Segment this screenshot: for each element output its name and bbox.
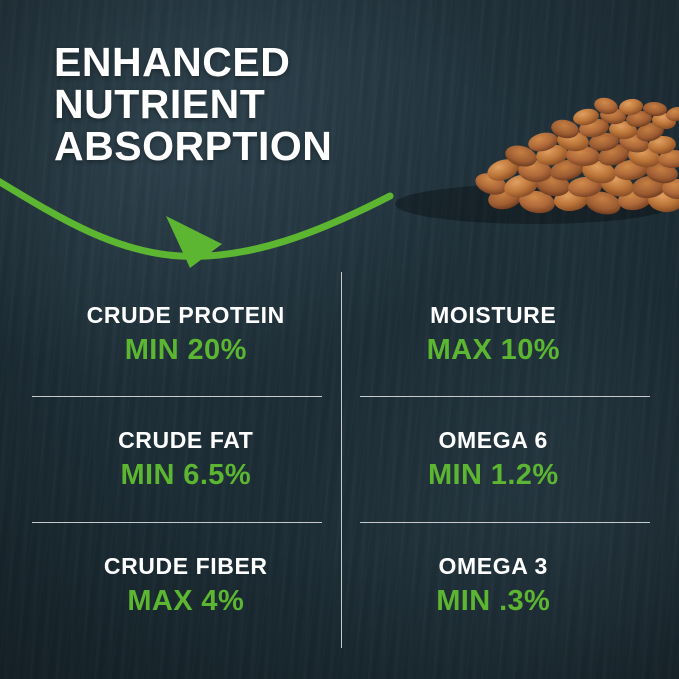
spec-label: CRUDE PROTEIN bbox=[87, 302, 285, 329]
spec-value: MIN 1.2% bbox=[428, 459, 559, 492]
spec-value: MAX 10% bbox=[427, 334, 560, 367]
spec-cell-crude-protein: CRUDE PROTEIN MIN 20% bbox=[32, 272, 340, 397]
spec-cell-moisture: MOISTURE MAX 10% bbox=[340, 272, 648, 397]
headline-line-3: ABSORPTION bbox=[54, 126, 332, 168]
spec-label: OMEGA 3 bbox=[439, 553, 548, 580]
spec-cell-omega-3: OMEGA 3 MIN .3% bbox=[340, 523, 648, 648]
spec-cell-crude-fiber: CRUDE FIBER MAX 4% bbox=[32, 523, 340, 648]
spec-label: OMEGA 6 bbox=[439, 427, 548, 454]
spec-value: MIN 6.5% bbox=[120, 459, 251, 492]
spec-cell-omega-6: OMEGA 6 MIN 1.2% bbox=[340, 397, 648, 522]
spec-label: CRUDE FIBER bbox=[104, 553, 268, 580]
spec-cell-crude-fat: CRUDE FAT MIN 6.5% bbox=[32, 397, 340, 522]
page-title: ENHANCED NUTRIENT ABSORPTION bbox=[54, 42, 332, 167]
spec-value: MIN 20% bbox=[125, 334, 247, 367]
headline-line-1: ENHANCED bbox=[54, 42, 332, 84]
headline-line-2: NUTRIENT bbox=[54, 84, 332, 126]
spec-value: MIN .3% bbox=[436, 585, 550, 618]
spec-value: MAX 4% bbox=[127, 585, 244, 618]
nutrition-poster: ENHANCED NUTRIENT ABSORPTION CRUDE PROTE… bbox=[0, 0, 679, 679]
nutrition-spec-grid: CRUDE PROTEIN MIN 20% MOISTURE MAX 10% C… bbox=[32, 272, 647, 648]
spec-label: MOISTURE bbox=[430, 302, 556, 329]
curved-arrow-icon bbox=[0, 160, 460, 280]
spec-label: CRUDE FAT bbox=[118, 427, 253, 454]
